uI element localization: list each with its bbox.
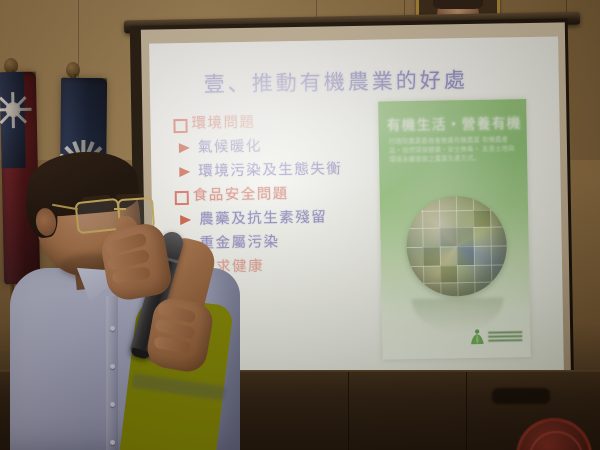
square-bullet-icon	[172, 115, 186, 133]
agency-logo-icon	[468, 327, 522, 350]
shirt-button	[110, 440, 115, 445]
photo-mosaic-globe-icon	[406, 195, 508, 297]
shirt-placket	[106, 296, 118, 450]
slide-title: 壹、推動有機農業的好處	[204, 63, 524, 99]
screenshot-root: 壹、推動有機農業的好處 環境問題 氣候暖化 環境污染及生態失衡 食品安全問題	[0, 0, 600, 450]
agency-logo-wordmark	[488, 331, 522, 342]
shirt-button	[110, 364, 115, 369]
dark-object-on-ledge	[492, 388, 550, 404]
portrait-hair	[433, 0, 483, 9]
eyeglasses-bridge	[114, 208, 126, 210]
shirt-button	[110, 402, 115, 407]
poster-subtext: 行政院農業委員會推廣有機農業 有機農產品・自然環保健康・安全無毒・ 友善土地與環…	[389, 135, 517, 164]
eyeglasses-lens	[74, 198, 121, 234]
poster-headline: 有機生活・營養有機	[386, 113, 518, 135]
emblem-inner-ring	[529, 431, 583, 450]
presenter	[0, 150, 250, 450]
poster-image: 有機生活・營養有機 行政院農業委員會推廣有機農業 有機農產品・自然環保健康・安全…	[378, 99, 530, 360]
shirt-button	[110, 326, 115, 331]
wainscot-seam	[466, 372, 467, 450]
bullet-label: 環境問題	[191, 114, 255, 133]
wainscot-seam	[348, 372, 349, 450]
